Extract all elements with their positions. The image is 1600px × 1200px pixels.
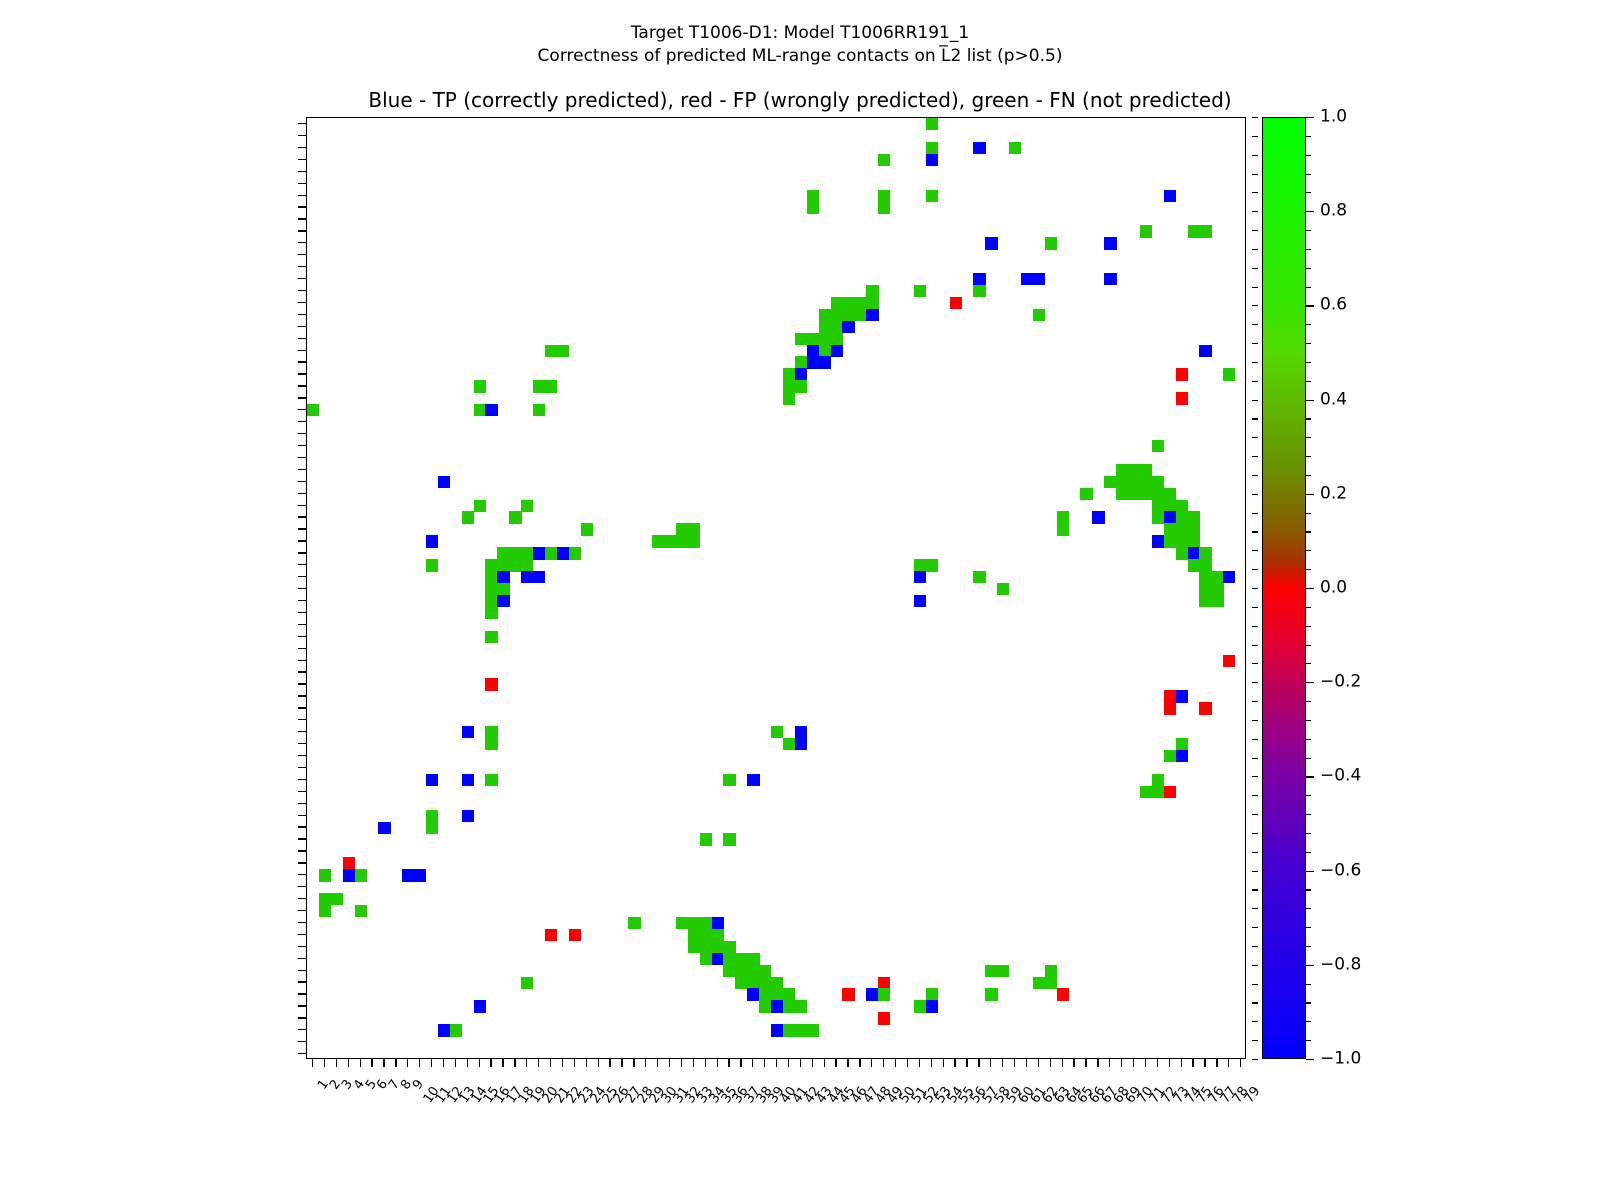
colorbar-outer-tick xyxy=(1252,701,1258,702)
colorbar-minor-tick xyxy=(1306,758,1311,759)
x-tick-mark xyxy=(645,1059,646,1067)
contact-cell xyxy=(1199,559,1211,571)
contact-cell xyxy=(1223,571,1235,583)
y-tick-mark xyxy=(298,135,306,136)
contact-cell xyxy=(628,917,640,929)
contact-cell xyxy=(831,333,843,345)
contact-cell xyxy=(842,309,854,321)
colorbar-tick-label: 0.0 xyxy=(1320,580,1347,597)
contact-cell xyxy=(485,607,497,619)
y-tick-mark xyxy=(298,719,306,720)
contact-cell xyxy=(712,941,724,953)
contact-cell xyxy=(1164,702,1176,714)
y-tick-mark xyxy=(298,1041,306,1042)
x-tick-mark xyxy=(1133,1059,1134,1067)
x-tick-mark xyxy=(1073,1059,1074,1067)
colorbar-outer-tick xyxy=(1252,305,1258,306)
contact-cell xyxy=(997,583,1009,595)
contact-cell xyxy=(819,333,831,345)
y-tick-mark xyxy=(298,564,306,565)
y-tick-mark xyxy=(298,767,306,768)
colorbar-gradient xyxy=(1262,117,1306,1059)
colorbar-minor-tick xyxy=(1306,268,1311,269)
colorbar-minor-tick xyxy=(1306,211,1311,212)
contact-cell xyxy=(926,559,938,571)
colorbar-outer-tick xyxy=(1252,494,1258,495)
x-tick-mark xyxy=(443,1059,444,1067)
x-tick-mark xyxy=(919,1059,920,1067)
colorbar-outer-tick xyxy=(1252,682,1258,683)
y-tick-mark xyxy=(298,862,306,863)
colorbar-minor-tick xyxy=(1306,701,1311,702)
y-tick-mark xyxy=(298,1053,306,1054)
contact-cell xyxy=(747,988,759,1000)
y-tick-mark xyxy=(298,123,306,124)
colorbar-outer-tick xyxy=(1252,211,1258,212)
colorbar[interactable]: 1.00.80.60.40.20.0−0.2−0.4−0.6−0.8−1.0 xyxy=(1262,117,1306,1059)
contact-cell xyxy=(1164,190,1176,202)
contact-cell xyxy=(533,571,545,583)
contact-cell xyxy=(914,1000,926,1012)
colorbar-minor-tick xyxy=(1306,1021,1311,1022)
contact-cell xyxy=(1164,511,1176,523)
colorbar-outer-tick xyxy=(1252,927,1258,928)
contact-cell xyxy=(557,345,569,357)
contact-cell xyxy=(1164,690,1176,702)
colorbar-outer-tick xyxy=(1252,1059,1258,1060)
contact-cell xyxy=(854,297,866,309)
x-tick-mark xyxy=(324,1059,325,1067)
y-tick-mark xyxy=(298,361,306,362)
x-tick-mark xyxy=(514,1059,515,1067)
colorbar-outer-tick xyxy=(1252,287,1258,288)
contact-cell xyxy=(759,977,771,989)
contact-cell xyxy=(1092,511,1104,523)
contact-cell xyxy=(878,154,890,166)
contact-cell xyxy=(485,738,497,750)
contact-cell xyxy=(426,559,438,571)
x-tick-mark xyxy=(883,1059,884,1067)
x-tick-mark xyxy=(1109,1059,1110,1067)
x-tick-mark xyxy=(1240,1059,1241,1067)
x-tick-mark xyxy=(419,1059,420,1067)
colorbar-minor-tick xyxy=(1306,588,1311,589)
y-tick-mark xyxy=(298,266,306,267)
contact-cell xyxy=(569,929,581,941)
colorbar-outer-tick xyxy=(1252,155,1258,156)
colorbar-minor-tick xyxy=(1306,494,1311,495)
contact-cell xyxy=(1176,368,1188,380)
x-tick-mark xyxy=(1002,1059,1003,1067)
colorbar-minor-tick xyxy=(1306,645,1311,646)
contact-cell xyxy=(307,404,319,416)
contact-cell xyxy=(521,977,533,989)
colorbar-outer-tick xyxy=(1252,965,1258,966)
contact-cell xyxy=(973,285,985,297)
colorbar-outer-tick xyxy=(1252,908,1258,909)
colorbar-outer-tick xyxy=(1252,400,1258,401)
contact-cell xyxy=(319,905,331,917)
contact-cell xyxy=(866,297,878,309)
x-tick-mark xyxy=(859,1059,860,1067)
contact-cell xyxy=(509,559,521,571)
y-tick-mark xyxy=(298,826,306,827)
contact-cell xyxy=(1164,523,1176,535)
contact-cell xyxy=(343,857,355,869)
x-tick-mark xyxy=(1062,1059,1063,1067)
colorbar-minor-tick xyxy=(1306,814,1311,815)
contact-cell xyxy=(831,321,843,333)
y-tick-mark xyxy=(298,278,306,279)
colorbar-minor-tick xyxy=(1306,1040,1311,1041)
colorbar-minor-tick xyxy=(1306,1059,1311,1060)
x-tick-mark xyxy=(847,1059,848,1067)
contact-cell xyxy=(545,380,557,392)
y-tick-mark xyxy=(298,385,306,386)
contact-cell xyxy=(1128,488,1140,500)
contact-cell xyxy=(1152,511,1164,523)
y-tick-mark xyxy=(298,195,306,196)
contact-cell xyxy=(1140,225,1152,237)
x-tick-mark xyxy=(1228,1059,1229,1067)
contact-cell xyxy=(343,869,355,881)
colorbar-outer-tick xyxy=(1252,626,1258,627)
contact-cell xyxy=(747,965,759,977)
y-tick-mark xyxy=(298,409,306,410)
contact-cell xyxy=(700,941,712,953)
colorbar-minor-tick xyxy=(1306,607,1311,608)
y-tick-mark xyxy=(298,183,306,184)
contact-cell xyxy=(664,535,676,547)
contact-cell xyxy=(807,333,819,345)
y-tick-mark xyxy=(298,338,306,339)
x-tick-mark xyxy=(550,1059,551,1067)
contact-cell xyxy=(723,941,735,953)
x-tick-mark xyxy=(1026,1059,1027,1067)
contact-cell xyxy=(700,953,712,965)
y-tick-mark xyxy=(298,683,306,684)
colorbar-outer-tick xyxy=(1252,117,1258,118)
colorbar-minor-tick xyxy=(1306,795,1311,796)
colorbar-outer-tick xyxy=(1252,607,1258,608)
contact-map-plot-area[interactable] xyxy=(306,117,1246,1059)
contact-cell xyxy=(795,333,807,345)
colorbar-minor-tick xyxy=(1306,136,1311,137)
contact-cell xyxy=(926,154,938,166)
contact-cell xyxy=(985,988,997,1000)
x-tick-mark xyxy=(693,1059,694,1067)
contact-cell xyxy=(450,1024,462,1036)
colorbar-outer-tick xyxy=(1252,531,1258,532)
y-tick-mark xyxy=(298,874,306,875)
contact-cell xyxy=(688,535,700,547)
contact-cell xyxy=(1199,571,1211,583)
contact-cell xyxy=(676,523,688,535)
colorbar-outer-tick xyxy=(1252,720,1258,721)
contact-cell xyxy=(783,380,795,392)
contact-cell xyxy=(926,988,938,1000)
contact-cell xyxy=(497,547,509,559)
colorbar-minor-tick xyxy=(1306,287,1311,288)
colorbar-tick-label: 1.0 xyxy=(1320,109,1347,126)
contact-cell xyxy=(1176,690,1188,702)
contact-cell xyxy=(914,571,926,583)
colorbar-outer-tick xyxy=(1252,795,1258,796)
contact-cell xyxy=(1033,309,1045,321)
y-tick-mark xyxy=(298,970,306,971)
contact-cell xyxy=(485,559,497,571)
contact-cell xyxy=(1045,977,1057,989)
y-tick-mark xyxy=(298,481,306,482)
contact-cell xyxy=(795,380,807,392)
x-tick-mark xyxy=(776,1059,777,1067)
contact-cell xyxy=(1199,702,1211,714)
y-tick-mark xyxy=(298,576,306,577)
colorbar-minor-tick xyxy=(1306,437,1311,438)
contact-cell xyxy=(1140,786,1152,798)
contact-cell xyxy=(914,559,926,571)
contact-cell xyxy=(723,965,735,977)
y-tick-mark xyxy=(298,981,306,982)
colorbar-outer-tick xyxy=(1252,418,1258,419)
contact-cell xyxy=(831,297,843,309)
contact-cell xyxy=(1152,500,1164,512)
contact-cell xyxy=(1188,511,1200,523)
colorbar-minor-tick xyxy=(1306,908,1311,909)
colorbar-outer-tick xyxy=(1252,833,1258,834)
y-tick-mark xyxy=(298,373,306,374)
y-tick-mark xyxy=(298,469,306,470)
x-tick-mark xyxy=(455,1059,456,1067)
colorbar-outer-tick xyxy=(1252,852,1258,853)
contact-cell xyxy=(783,988,795,1000)
contact-cell xyxy=(973,273,985,285)
contact-cell xyxy=(485,571,497,583)
contact-cell xyxy=(771,1000,783,1012)
colorbar-outer-tick xyxy=(1252,249,1258,250)
y-tick-mark xyxy=(298,242,306,243)
x-tick-mark xyxy=(669,1059,670,1067)
colorbar-minor-tick xyxy=(1306,569,1311,570)
y-tick-mark xyxy=(298,1017,306,1018)
x-tick-mark xyxy=(1038,1059,1039,1067)
contact-cell xyxy=(1176,535,1188,547)
contact-cell xyxy=(1164,750,1176,762)
y-tick-mark xyxy=(298,350,306,351)
contact-cell xyxy=(771,726,783,738)
figure-subtitle: Blue - TP (correctly predicted), red - F… xyxy=(0,88,1600,112)
contact-cell xyxy=(1199,583,1211,595)
colorbar-outer-tick xyxy=(1252,136,1258,137)
colorbar-outer-tick xyxy=(1252,984,1258,985)
contact-cell xyxy=(1045,237,1057,249)
colorbar-outer-tick xyxy=(1252,230,1258,231)
x-tick-mark xyxy=(586,1059,587,1067)
colorbar-minor-tick xyxy=(1306,456,1311,457)
contact-cell xyxy=(878,201,890,213)
contact-cell xyxy=(926,142,938,154)
y-tick-mark xyxy=(298,755,306,756)
y-tick-mark xyxy=(298,612,306,613)
colorbar-minor-tick xyxy=(1306,155,1311,156)
contact-cell xyxy=(1152,488,1164,500)
contact-cell xyxy=(1176,547,1188,559)
contact-cell xyxy=(997,965,1009,977)
contact-cell xyxy=(1140,476,1152,488)
contact-cell xyxy=(914,595,926,607)
x-tick-mark xyxy=(812,1059,813,1067)
colorbar-tick-label: −0.2 xyxy=(1320,674,1361,691)
colorbar-minor-tick xyxy=(1306,871,1311,872)
x-tick-mark xyxy=(371,1059,372,1067)
contact-cell xyxy=(402,869,414,881)
x-tick-mark xyxy=(705,1059,706,1067)
contact-cell xyxy=(795,1024,807,1036)
contact-cell xyxy=(1188,523,1200,535)
y-tick-mark xyxy=(298,850,306,851)
y-tick-mark xyxy=(298,934,306,935)
contact-cell xyxy=(688,941,700,953)
x-tick-label: 9 xyxy=(411,1078,426,1092)
colorbar-outer-tick xyxy=(1252,475,1258,476)
contact-cell xyxy=(1188,535,1200,547)
y-tick-mark xyxy=(298,171,306,172)
contact-cell xyxy=(545,929,557,941)
contact-cell xyxy=(462,511,474,523)
contact-cell xyxy=(438,1024,450,1036)
contact-cell xyxy=(819,321,831,333)
contact-cell xyxy=(1176,500,1188,512)
x-tick-mark xyxy=(1216,1059,1217,1067)
contact-cell xyxy=(1057,988,1069,1000)
y-tick-mark xyxy=(298,1029,306,1030)
colorbar-outer-tick xyxy=(1252,871,1258,872)
contact-cell xyxy=(759,965,771,977)
contact-cell xyxy=(1211,595,1223,607)
contact-cell xyxy=(533,547,545,559)
colorbar-minor-tick xyxy=(1306,381,1311,382)
contact-cell xyxy=(723,953,735,965)
contact-cell xyxy=(688,929,700,941)
colorbar-outer-tick xyxy=(1252,324,1258,325)
y-axis: 1234567891011121314151617181920212223242… xyxy=(0,117,306,1059)
x-tick-mark xyxy=(431,1059,432,1067)
contact-cell xyxy=(1176,738,1188,750)
contact-cell xyxy=(735,953,747,965)
y-tick-mark xyxy=(298,457,306,458)
contact-cell xyxy=(485,595,497,607)
x-tick-mark xyxy=(1204,1059,1205,1067)
colorbar-tick-label: 0.6 xyxy=(1320,297,1347,314)
contact-cell xyxy=(783,738,795,750)
x-tick-mark xyxy=(479,1059,480,1067)
y-tick-mark xyxy=(298,290,306,291)
contact-cell xyxy=(1211,571,1223,583)
contact-cell xyxy=(735,965,747,977)
x-tick-mark xyxy=(681,1059,682,1067)
contact-cell xyxy=(1176,523,1188,535)
colorbar-outer-tick xyxy=(1252,889,1258,890)
x-tick-mark xyxy=(954,1059,955,1067)
y-tick-mark xyxy=(298,910,306,911)
contact-cell xyxy=(688,917,700,929)
colorbar-minor-tick xyxy=(1306,626,1311,627)
colorbar-minor-tick xyxy=(1306,249,1311,250)
contact-cell xyxy=(1080,488,1092,500)
contact-cell xyxy=(926,118,938,130)
y-tick-mark xyxy=(298,922,306,923)
contact-cell xyxy=(581,523,593,535)
contact-cell xyxy=(866,988,878,1000)
contact-cell xyxy=(807,201,819,213)
colorbar-minor-tick xyxy=(1306,305,1311,306)
contact-cell xyxy=(1116,476,1128,488)
contact-cell xyxy=(521,571,533,583)
colorbar-tick-label: 0.8 xyxy=(1320,203,1347,220)
x-tick-mark xyxy=(609,1059,610,1067)
y-tick-mark xyxy=(298,254,306,255)
colorbar-outer-tick xyxy=(1252,268,1258,269)
contact-cell xyxy=(985,237,997,249)
contact-cell xyxy=(866,285,878,297)
contact-cell xyxy=(783,1024,795,1036)
contact-cell xyxy=(878,190,890,202)
y-tick-mark xyxy=(298,314,306,315)
contact-cell xyxy=(509,547,521,559)
contact-cell xyxy=(783,1000,795,1012)
colorbar-minor-tick xyxy=(1306,984,1311,985)
contact-cell xyxy=(497,583,509,595)
y-tick-mark xyxy=(298,505,306,506)
colorbar-outer-tick xyxy=(1252,588,1258,589)
contact-cell xyxy=(331,893,343,905)
contact-cell xyxy=(783,392,795,404)
y-tick-mark xyxy=(298,516,306,517)
colorbar-tick-label: −1.0 xyxy=(1320,1051,1361,1068)
x-tick-mark xyxy=(502,1059,503,1067)
colorbar-minor-tick xyxy=(1306,550,1311,551)
contact-cell xyxy=(1199,345,1211,357)
y-tick-mark xyxy=(298,707,306,708)
contact-cell xyxy=(497,571,509,583)
x-tick-mark xyxy=(800,1059,801,1067)
contact-cell xyxy=(1104,273,1116,285)
contact-cell xyxy=(735,977,747,989)
contact-cell xyxy=(1116,488,1128,500)
colorbar-minor-tick xyxy=(1306,531,1311,532)
contact-cell xyxy=(569,547,581,559)
contact-cell xyxy=(545,345,557,357)
contact-cell xyxy=(1211,583,1223,595)
contact-cell xyxy=(771,977,783,989)
x-tick-mark xyxy=(360,1059,361,1067)
contact-cell xyxy=(497,559,509,571)
colorbar-outer-tick xyxy=(1252,739,1258,740)
contact-cell xyxy=(854,309,866,321)
contact-cell xyxy=(474,1000,486,1012)
contact-cell xyxy=(747,977,759,989)
contact-cell xyxy=(676,917,688,929)
colorbar-minor-tick xyxy=(1306,343,1311,344)
contact-cell xyxy=(926,190,938,202)
y-tick-mark xyxy=(298,636,306,637)
y-tick-mark xyxy=(298,218,306,219)
x-tick-mark xyxy=(764,1059,765,1067)
x-tick-mark xyxy=(657,1059,658,1067)
contact-cell xyxy=(842,988,854,1000)
contact-cell xyxy=(878,1012,890,1024)
contact-cell xyxy=(783,368,795,380)
